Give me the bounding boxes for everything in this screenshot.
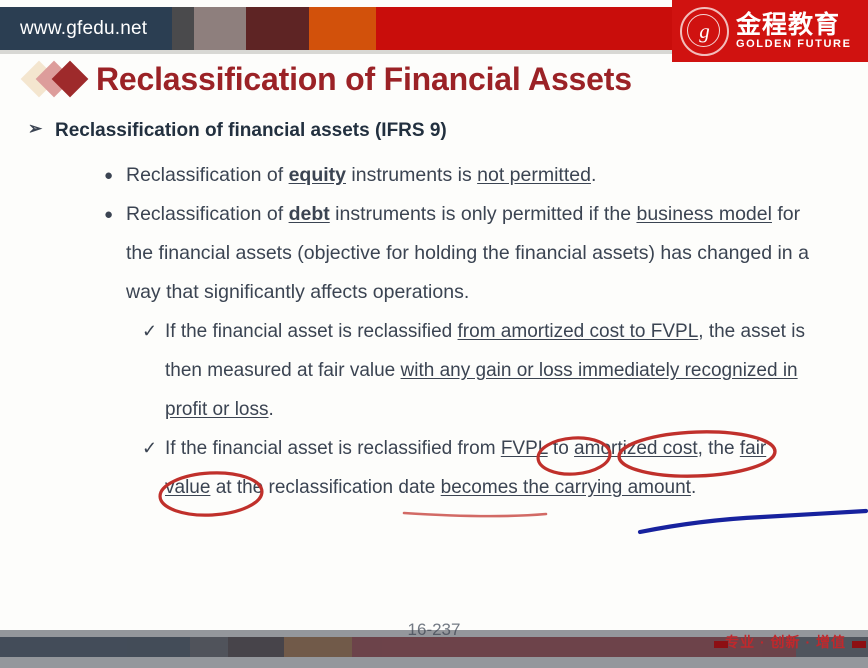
list-item: ✓ If the financial asset is reclassified… xyxy=(165,312,813,429)
brand-name-en: GOLDEN FUTURE xyxy=(736,39,852,51)
bullet-1-text: Reclassification of equity instruments i… xyxy=(126,164,596,186)
banner-strip-gray xyxy=(194,7,246,50)
banner-strip-orange xyxy=(309,7,376,50)
dot-bullet-icon: ● xyxy=(104,156,113,195)
brand-seal-letter: g xyxy=(699,21,710,42)
brand-text: 金程教育 GOLDEN FUTURE xyxy=(736,12,852,51)
list-item: ● Reclassification of equity instruments… xyxy=(126,156,818,195)
subbullet-1-text: If the financial asset is reclassified f… xyxy=(165,321,805,420)
diamond-bullet-icon xyxy=(24,57,96,101)
banner-strip-dark xyxy=(172,7,194,50)
list-item: ✓ If the financial asset is reclassified… xyxy=(165,429,813,507)
dot-bullet-icon: ● xyxy=(104,195,113,234)
check-bullet-icon: ✓ xyxy=(142,429,157,468)
heading-text: Reclassification of financial assets (IF… xyxy=(55,120,447,141)
site-url: www.gfedu.net xyxy=(20,9,147,49)
title-row: Reclassification of Financial Assets xyxy=(24,57,632,101)
brand-seal-icon: g xyxy=(680,7,729,56)
heading-bullet: ➢ Reclassification of financial assets (… xyxy=(55,120,868,142)
bullet-2-text: Reclassification of debt instruments is … xyxy=(126,203,809,303)
subbullet-2-text: If the financial asset is reclassified f… xyxy=(165,438,766,498)
slide-canvas: www.gfedu.net g 金程教育 GOLDEN FUTURE Recla… xyxy=(0,0,868,668)
red-underline-annotation xyxy=(404,513,546,516)
footer-slogan: 专业 · 创新 · 增值 xyxy=(725,632,846,652)
blue-underline-annotation xyxy=(640,511,866,532)
arrow-bullet-icon: ➢ xyxy=(28,119,42,139)
brand-logo: g 金程教育 GOLDEN FUTURE xyxy=(672,0,868,62)
slogan-cap-right-icon xyxy=(852,641,866,648)
slide-body: ➢ Reclassification of financial assets (… xyxy=(0,120,868,507)
brand-name-cn: 金程教育 xyxy=(736,12,852,38)
page-title: Reclassification of Financial Assets xyxy=(96,61,632,98)
check-bullet-icon: ✓ xyxy=(142,312,157,351)
banner-strip-maroon xyxy=(246,7,309,50)
list-item: ● Reclassification of debt instruments i… xyxy=(126,195,818,312)
